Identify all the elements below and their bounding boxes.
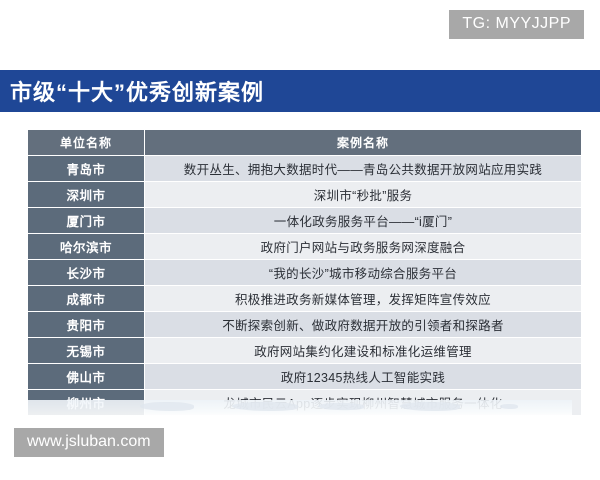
cell-case-name: 政府网站集约化建设和标准化运维管理 — [145, 338, 581, 364]
decorative-shape — [500, 404, 518, 409]
table-row: 成都市积极推进政务新媒体管理，发挥矩阵宣传效应 — [28, 286, 581, 312]
cell-unit-name: 无锡市 — [28, 338, 145, 364]
table-row: 深圳市深圳市“秒批”服务 — [28, 182, 581, 208]
cell-unit-name: 深圳市 — [28, 182, 145, 208]
cell-unit-name: 成都市 — [28, 286, 145, 312]
table-row: 哈尔滨市政府门户网站与政务服务网深度融合 — [28, 234, 581, 260]
case-table-container: 单位名称 案例名称 青岛市数开丛生、拥抱大数据时代——青岛公共数据开放网站应用实… — [28, 130, 572, 415]
cell-unit-name: 厦门市 — [28, 208, 145, 234]
channel-badge: TG: MYYJJPP — [449, 10, 584, 39]
table-row: 无锡市政府网站集约化建设和标准化运维管理 — [28, 338, 581, 364]
table-row: 贵阳市不断探索创新、做政府数据开放的引领者和探路者 — [28, 312, 581, 338]
column-header-unit-name: 单位名称 — [28, 130, 145, 156]
table-row: 厦门市一体化政务服务平台——“i厦门” — [28, 208, 581, 234]
table-header-row: 单位名称 案例名称 — [28, 130, 581, 156]
cell-unit-name: 长沙市 — [28, 260, 145, 286]
cell-case-name: “我的长沙”城市移动综合服务平台 — [145, 260, 581, 286]
table-row: 青岛市数开丛生、拥抱大数据时代——青岛公共数据开放网站应用实践 — [28, 156, 581, 182]
cell-unit-name: 佛山市 — [28, 364, 145, 390]
table-row: 长沙市“我的长沙”城市移动综合服务平台 — [28, 260, 581, 286]
cell-case-name: 数开丛生、拥抱大数据时代——青岛公共数据开放网站应用实践 — [145, 156, 581, 182]
cell-case-name: 积极推进政务新媒体管理，发挥矩阵宣传效应 — [145, 286, 581, 312]
cell-unit-name: 哈尔滨市 — [28, 234, 145, 260]
cell-case-name: 一体化政务服务平台——“i厦门” — [145, 208, 581, 234]
title-banner: 市级“十大”优秀创新案例 — [0, 70, 600, 112]
case-table: 单位名称 案例名称 青岛市数开丛生、拥抱大数据时代——青岛公共数据开放网站应用实… — [28, 130, 581, 415]
cell-unit-name: 贵阳市 — [28, 312, 145, 338]
table-row: 佛山市政府12345热线人工智能实践 — [28, 364, 581, 390]
cell-case-name: 深圳市“秒批”服务 — [145, 182, 581, 208]
cell-case-name: 不断探索创新、做政府数据开放的引领者和探路者 — [145, 312, 581, 338]
decorative-band — [28, 400, 572, 416]
decorative-shape — [318, 403, 364, 410]
page-title: 市级“十大”优秀创新案例 — [0, 75, 264, 107]
column-header-case-name: 案例名称 — [145, 130, 581, 156]
cell-case-name: 政府12345热线人工智能实践 — [145, 364, 581, 390]
table-header: 单位名称 案例名称 — [28, 130, 581, 156]
cell-unit-name: 青岛市 — [28, 156, 145, 182]
site-watermark: www.jsluban.com — [14, 428, 164, 457]
table-body: 青岛市数开丛生、拥抱大数据时代——青岛公共数据开放网站应用实践深圳市深圳市“秒批… — [28, 156, 581, 415]
cell-case-name: 政府门户网站与政务服务网深度融合 — [145, 234, 581, 260]
